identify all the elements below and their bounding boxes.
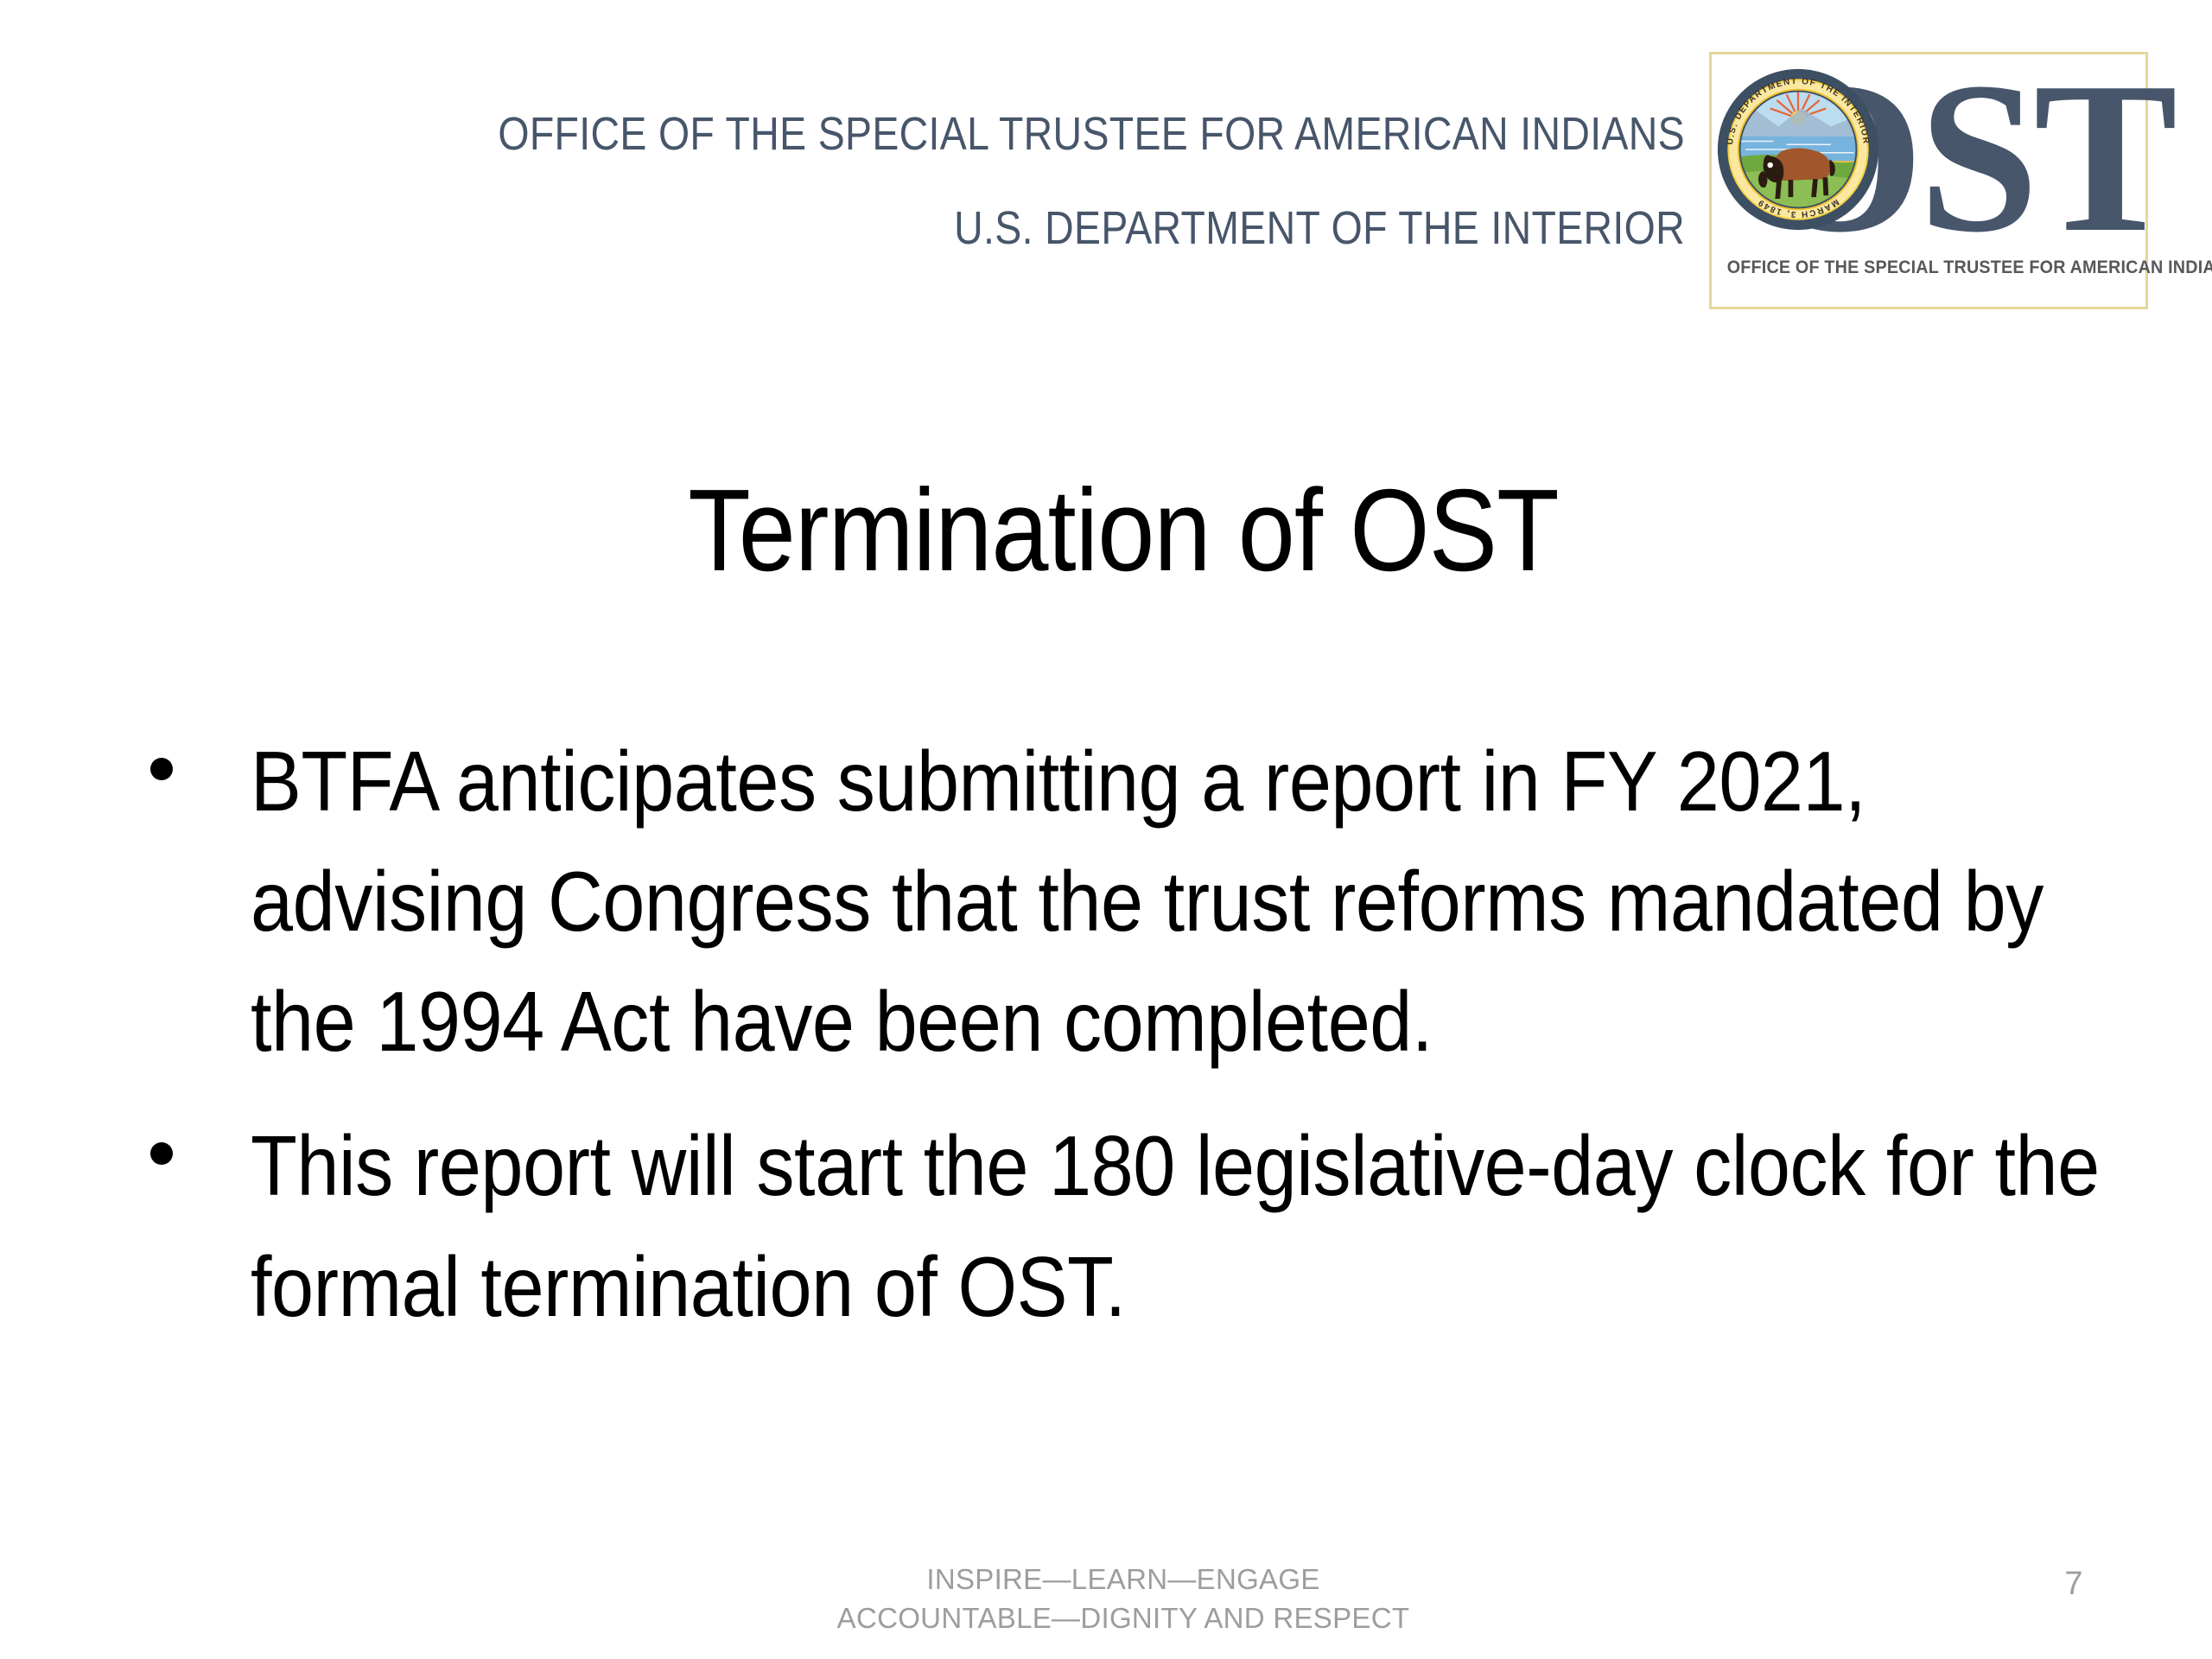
list-item: This report will start the 180 legislati… <box>130 1106 2143 1346</box>
slide-canvas: OFFICE OF THE SPECIAL TRUSTEE FOR AMERIC… <box>0 0 2212 1659</box>
doi-seal-icon: U.S. DEPARTMENT OF THE INTERIOR MARCH 3,… <box>1716 67 1880 232</box>
bullet-text: BTFA anticipates submitting a report in … <box>251 721 2141 1082</box>
page-number: 7 <box>2039 1566 2108 1603</box>
header-department-name: U.S. DEPARTMENT OF THE INTERIOR <box>459 205 1685 251</box>
bullet-dot-icon <box>150 1142 173 1165</box>
logo-caption: OFFICE OF THE SPECIAL TRUSTEE FOR AMERIC… <box>1727 257 2126 278</box>
slide-header: OFFICE OF THE SPECIAL TRUSTEE FOR AMERIC… <box>259 111 1685 251</box>
bullet-list: BTFA anticipates submitting a report in … <box>130 721 2143 1371</box>
ost-logo: OST <box>1709 52 2150 311</box>
header-organization-name: OFFICE OF THE SPECIAL TRUSTEE FOR AMERIC… <box>459 111 1685 157</box>
footer-tagline: INSPIRE—LEARN—ENGAGE ACCOUNTABLE—DIGNITY… <box>588 1560 1659 1637</box>
bullet-dot-icon <box>150 758 173 780</box>
list-item: BTFA anticipates submitting a report in … <box>130 721 2143 1082</box>
slide-title: Termination of OST <box>271 465 1974 595</box>
footer-tagline-line-2: ACCOUNTABLE—DIGNITY AND RESPECT <box>588 1599 1659 1638</box>
bullet-text: This report will start the 180 legislati… <box>251 1106 2141 1346</box>
footer-tagline-line-1: INSPIRE—LEARN—ENGAGE <box>588 1560 1659 1599</box>
